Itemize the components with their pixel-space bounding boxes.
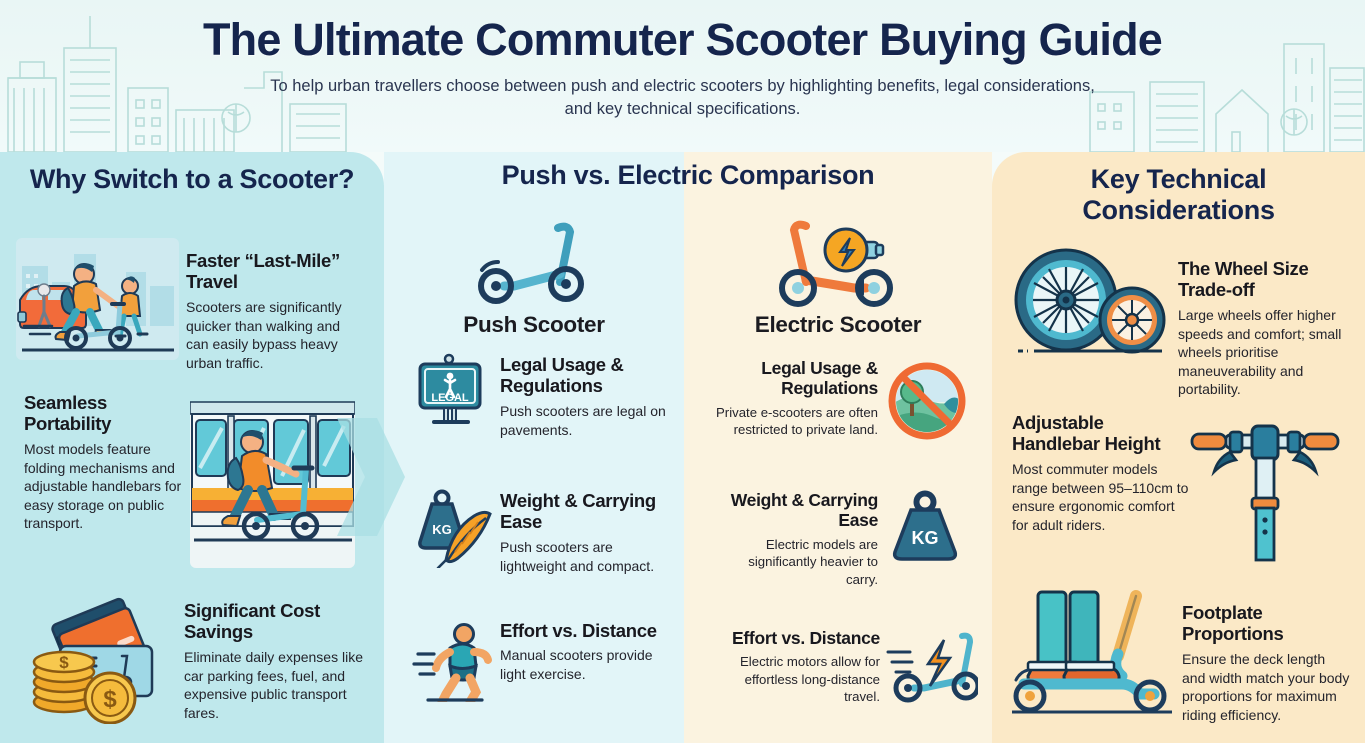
feature-push-legal: Legal Usage & Regulations Push scooters … xyxy=(500,354,668,439)
feature-body: Push scooters are lightweight and compac… xyxy=(500,538,668,575)
weight-kg-text: KG xyxy=(432,522,452,537)
no-public-land-icon xyxy=(886,360,968,442)
feature-body: Eliminate daily expenses like car parkin… xyxy=(184,648,364,722)
heading-key-technical: Key Technical Considerations xyxy=(992,164,1365,227)
weight-feather-icon: KG xyxy=(412,488,496,568)
feature-title: Adjustable Handlebar Height xyxy=(1012,412,1190,455)
legal-sign-text: LEGAL xyxy=(431,392,469,404)
footplate-feet-icon xyxy=(1012,588,1176,716)
legal-sign-icon: LEGAL xyxy=(414,352,488,426)
feature-title: The Wheel Size Trade-off xyxy=(1178,258,1350,301)
wheel-size-comparison-icon xyxy=(1010,248,1170,360)
feature-body: Private e-scooters are often restricted … xyxy=(714,404,878,439)
svg-text:$: $ xyxy=(59,653,69,672)
rider-in-traffic-illustration xyxy=(16,238,179,360)
page-title: The Ultimate Commuter Scooter Buying Gui… xyxy=(0,16,1365,64)
rider-boarding-train-illustration xyxy=(190,400,355,568)
electric-scooter-icon xyxy=(768,214,914,318)
feature-body: Electric motors allow for effortless lon… xyxy=(712,653,880,706)
feature-body: Push scooters are legal on pavements. xyxy=(500,402,668,439)
heading-why-switch: Why Switch to a Scooter? xyxy=(0,164,384,195)
feature-body: Manual scooters provide light exercise. xyxy=(500,646,668,683)
push-scooter-icon xyxy=(466,214,606,314)
feature-footplate: Footplate Proportions Ensure the deck le… xyxy=(1182,602,1352,724)
feature-faster-last-mile: Faster “Last-Mile” Travel Scooters are s… xyxy=(186,250,364,372)
feature-body: Scooters are significantly quicker than … xyxy=(186,298,364,372)
feature-title: Effort vs. Distance xyxy=(500,620,668,641)
feature-title: Seamless Portability xyxy=(24,392,182,435)
feature-body: Large wheels offer higher speeds and com… xyxy=(1178,306,1350,399)
feature-body: Electric models are significantly heavie… xyxy=(714,536,878,589)
feature-electric-legal: Legal Usage & Regulations Private e-scoo… xyxy=(714,358,878,439)
feature-cost-savings: Significant Cost Savings Eliminate daily… xyxy=(184,600,364,722)
heading-comparison: Push vs. Electric Comparison xyxy=(384,160,992,191)
running-person-icon xyxy=(412,620,496,702)
infographic-poster: The Ultimate Commuter Scooter Buying Gui… xyxy=(0,0,1365,743)
feature-title: Significant Cost Savings xyxy=(184,600,364,643)
svg-text:$: $ xyxy=(103,686,117,713)
feature-title: Weight & Carrying Ease xyxy=(500,490,668,533)
feature-title: Weight & Carrying Ease xyxy=(714,490,878,531)
feature-electric-effort: Effort vs. Distance Electric motors allo… xyxy=(712,628,880,706)
feature-title: Effort vs. Distance xyxy=(712,628,880,648)
feature-title: Faster “Last-Mile” Travel xyxy=(186,250,364,293)
heavy-weight-icon: KG xyxy=(888,490,962,564)
feature-push-effort: Effort vs. Distance Manual scooters prov… xyxy=(500,620,668,684)
feature-title: Legal Usage & Regulations xyxy=(714,358,878,399)
feature-electric-weight: Weight & Carrying Ease Electric models a… xyxy=(714,490,878,588)
feature-title: Legal Usage & Regulations xyxy=(500,354,668,397)
feature-wheel-size: The Wheel Size Trade-off Large wheels of… xyxy=(1178,258,1350,399)
flow-arrow-decoration xyxy=(337,418,405,536)
handlebar-icon xyxy=(1190,418,1340,564)
feature-body: Most commuter models range between 95–11… xyxy=(1012,460,1190,534)
label-push-scooter: Push Scooter xyxy=(384,312,684,338)
header-banner: The Ultimate Commuter Scooter Buying Gui… xyxy=(0,0,1365,152)
page-subtitle: To help urban travellers choose between … xyxy=(268,75,1098,122)
feature-title: Footplate Proportions xyxy=(1182,602,1352,645)
feature-body: Most models feature folding mechanisms a… xyxy=(24,440,182,533)
electric-scooter-speed-icon xyxy=(886,630,978,706)
weight-kg-text: KG xyxy=(912,528,939,548)
feature-body: Ensure the deck length and width match y… xyxy=(1182,650,1352,724)
coins-cards-savings-illustration: $ $ xyxy=(24,592,176,724)
feature-push-weight: Weight & Carrying Ease Push scooters are… xyxy=(500,490,668,575)
feature-handlebar-height: Adjustable Handlebar Height Most commute… xyxy=(1012,412,1190,534)
label-electric-scooter: Electric Scooter xyxy=(684,312,992,338)
feature-seamless-portability: Seamless Portability Most models feature… xyxy=(24,392,182,533)
